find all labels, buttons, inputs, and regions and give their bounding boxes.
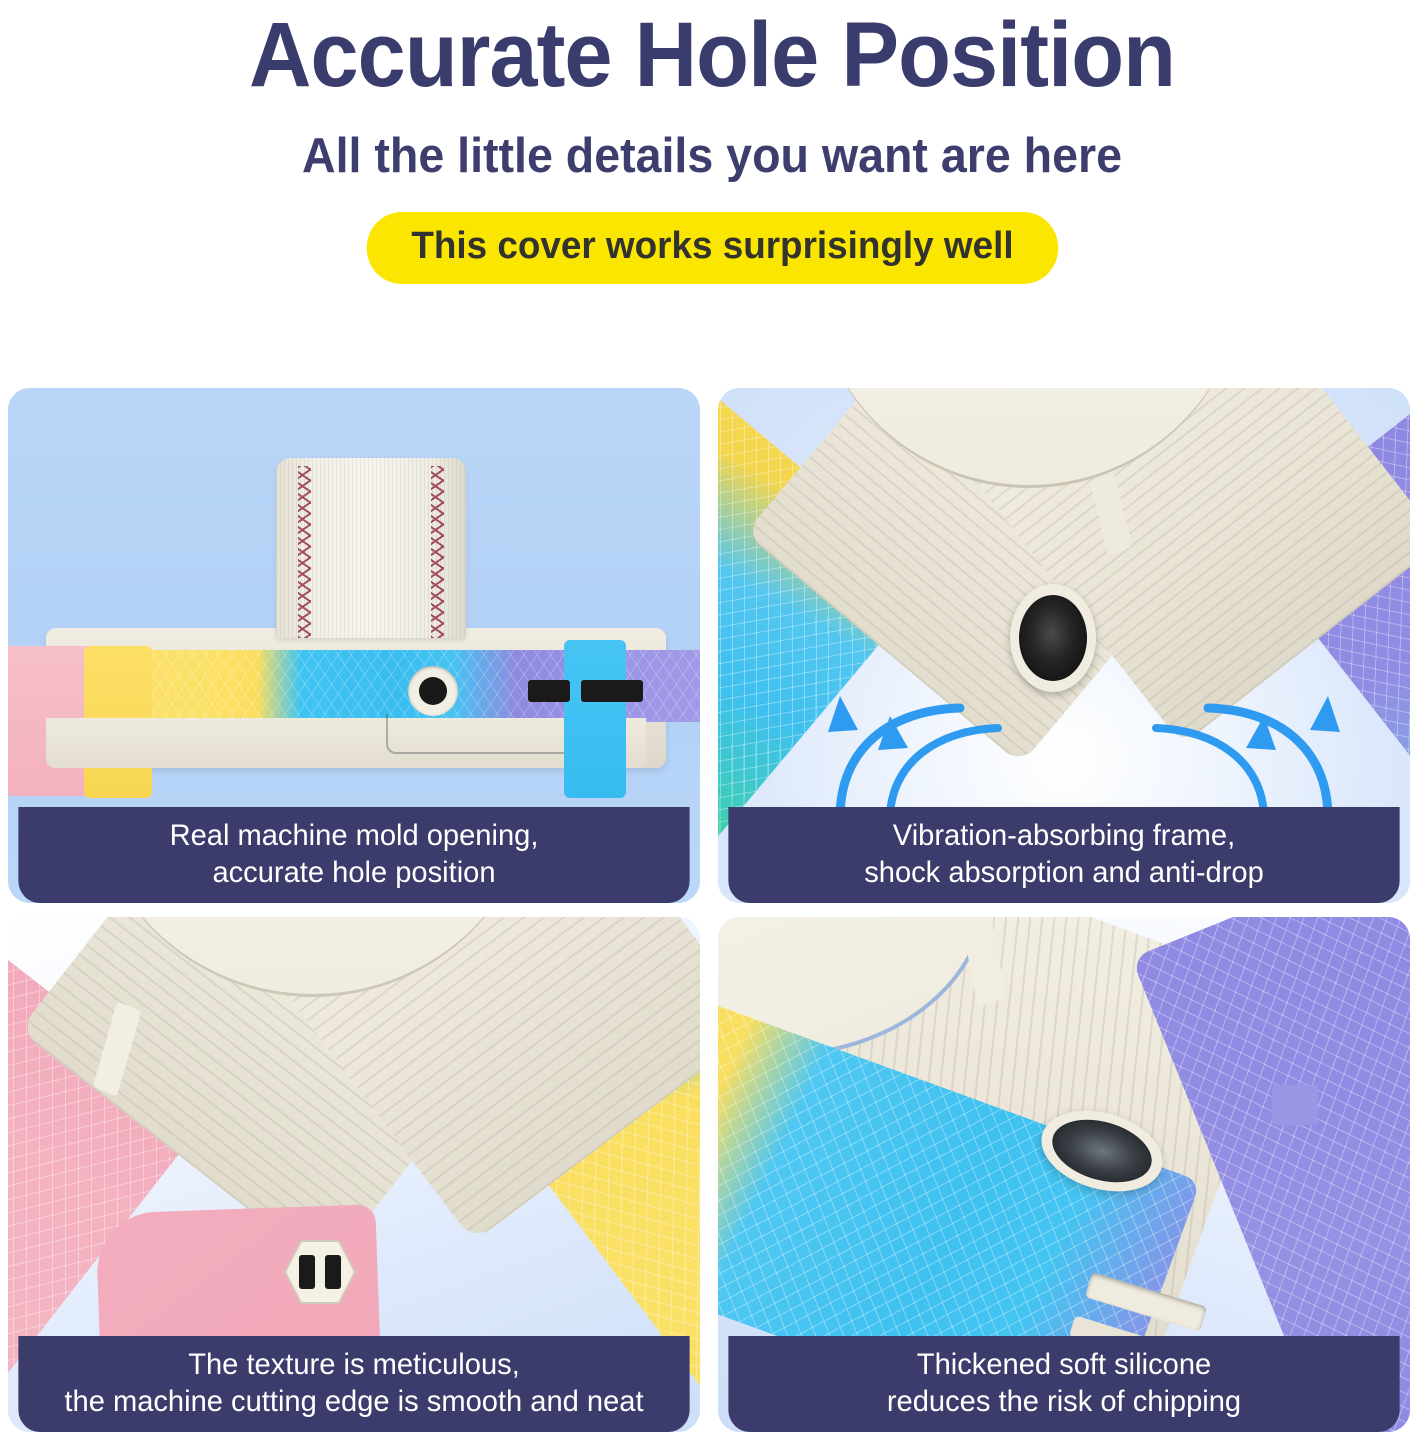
hexagonal-port-cutout (283, 1237, 357, 1312)
volume-button-cutout (528, 680, 570, 702)
caption-line-1: Real machine mold opening, (170, 818, 539, 855)
panel-thickened-silicone: Thickened soft silicone reduces the risk… (718, 917, 1410, 1432)
panel-vibration-absorbing: Vibration-absorbing frame, shock absorpt… (718, 388, 1410, 903)
panel-caption: Vibration-absorbing frame, shock absorpt… (728, 807, 1399, 903)
header: Accurate Hole Position All the little de… (0, 0, 1424, 284)
panel-texture-meticulous: The texture is meticulous, the machine c… (8, 917, 700, 1432)
feature-panel-grid: Real machine mold opening, accurate hole… (8, 388, 1416, 1432)
camera-lens (1010, 584, 1096, 692)
page-title: Accurate Hole Position (43, 6, 1382, 105)
caption-line-2: accurate hole position (212, 855, 495, 892)
caption-line-2: shock absorption and anti-drop (864, 855, 1264, 892)
shock-arrow-inner-right (1126, 704, 1286, 824)
shock-arrow-inner-left (868, 704, 1028, 824)
highlight-badge: This cover works surprisingly well (366, 212, 1058, 284)
caption-line-1: Thickened soft silicone (917, 1347, 1211, 1384)
power-button-cutout (581, 680, 643, 702)
panel-caption: Real machine mold opening, accurate hole… (18, 807, 689, 903)
page-subtitle: All the little details you want are here (36, 127, 1389, 186)
blue-corner-cap (564, 640, 626, 798)
strap-weave-texture (276, 458, 466, 638)
purple-tab (1272, 1085, 1318, 1125)
shoulder-strap (276, 458, 466, 638)
panel-hole-position: Real machine mold opening, accurate hole… (8, 388, 700, 903)
caption-line-2: the machine cutting edge is smooth and n… (64, 1384, 643, 1421)
panel-caption: The texture is meticulous, the machine c… (18, 1336, 689, 1432)
caption-line-1: The texture is meticulous, (188, 1347, 520, 1384)
caption-line-1: Vibration-absorbing frame, (893, 818, 1235, 855)
badge-container: This cover works surprisingly well (0, 212, 1424, 284)
cutout-outline (386, 714, 591, 754)
panel-caption: Thickened soft silicone reduces the risk… (728, 1336, 1399, 1432)
caption-line-2: reduces the risk of chipping (887, 1384, 1241, 1421)
headphone-jack-hole (408, 666, 458, 716)
